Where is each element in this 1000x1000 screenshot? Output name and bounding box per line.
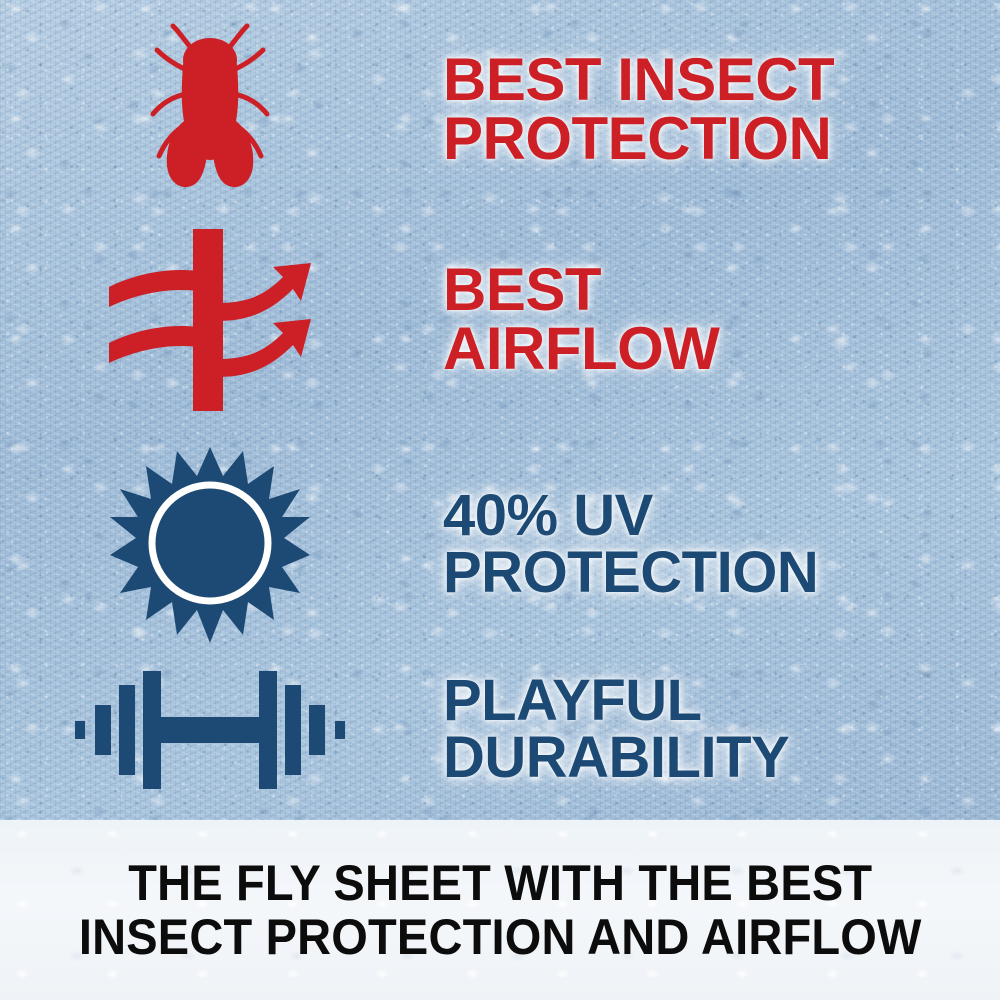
fly-icon xyxy=(135,20,285,200)
feature-row-airflow: BEST AIRFLOW xyxy=(0,225,1000,415)
caption-text: THE FLY SHEET WITH THE BEST INSECT PROTE… xyxy=(79,856,922,964)
feature-label-uv-protection: 40% UV PROTECTION xyxy=(443,488,1000,602)
feature-row-insect-protection: BEST INSECT PROTECTION xyxy=(0,10,1000,210)
sun-burst-icon xyxy=(110,445,310,645)
feature-label-insect-protection: BEST INSECT PROTECTION xyxy=(443,51,1000,169)
product-feature-infographic: BEST INSECT PROTECTION BEST AIRFLOW xyxy=(0,0,1000,1000)
text-cell-uv-protection: 40% UV PROTECTION xyxy=(420,488,1000,602)
caption-bar: THE FLY SHEET WITH THE BEST INSECT PROTE… xyxy=(0,820,1000,1000)
icon-cell-durability xyxy=(0,665,420,795)
text-cell-durability: PLAYFUL DURABILITY xyxy=(420,673,1000,787)
icon-cell-uv-protection xyxy=(0,445,420,645)
airflow-arrows-icon xyxy=(105,225,315,415)
text-cell-airflow: BEST AIRFLOW xyxy=(420,261,1000,379)
text-cell-insect-protection: BEST INSECT PROTECTION xyxy=(420,51,1000,169)
feature-label-durability: PLAYFUL DURABILITY xyxy=(443,673,1000,787)
icon-cell-insect-protection xyxy=(0,20,420,200)
icon-cell-airflow xyxy=(0,225,420,415)
feature-label-airflow: BEST AIRFLOW xyxy=(443,261,1000,379)
dumbbell-icon xyxy=(75,665,345,795)
feature-row-durability: PLAYFUL DURABILITY xyxy=(0,660,1000,800)
feature-row-uv-protection: 40% UV PROTECTION xyxy=(0,445,1000,645)
